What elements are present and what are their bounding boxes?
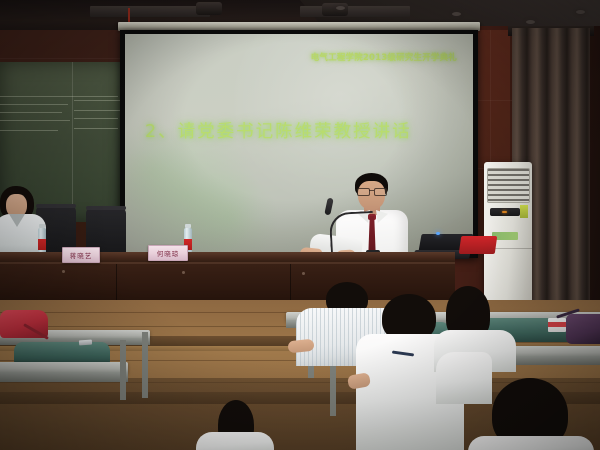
slide-header-text: 电气工程学院2013级研究生开学典礼 (311, 51, 457, 63)
chalkboard-line-3 (74, 100, 120, 101)
glasses-lens-right (374, 188, 387, 196)
chalkboard-line-7 (74, 118, 118, 119)
water-bottle-1 (38, 228, 46, 254)
audience-torso-6 (436, 352, 492, 404)
head-table-stud-3 (302, 272, 305, 275)
desk-front-front-left (0, 372, 128, 382)
screen-vignette (125, 34, 473, 253)
ceiling-speaker-left (322, 3, 348, 16)
ceiling-beam-1 (90, 6, 210, 17)
laptop-power-led-icon (436, 232, 440, 235)
wall-seam-4 (0, 58, 130, 59)
chalkboard-seam (72, 62, 73, 222)
nameplate-1-text: 蒋晓艺 (70, 250, 93, 260)
ac-power-indicator-icon (502, 211, 507, 213)
recessed-light-5 (576, 10, 585, 14)
bottle-cap-2 (185, 224, 191, 228)
nameplate-1: 蒋晓艺 (62, 247, 100, 263)
ceiling-speaker-right (196, 2, 222, 15)
desk-leg-left-1 (120, 340, 126, 400)
nameplate-2: 何晓琼 (148, 245, 188, 261)
ac-vent-grille-icon (487, 168, 530, 203)
nameplate-2-text: 何晓琼 (157, 248, 180, 258)
chalkboard-line-6 (0, 120, 70, 121)
audience-torso-5 (196, 432, 274, 450)
speaker-glasses-icon (357, 188, 386, 194)
chalkboard-line-8 (0, 130, 58, 131)
recessed-light-1 (336, 6, 345, 10)
projection-screen: 电气工程学院2013级研究生开学典礼 2、请党委书记陈维荣教授讲话 (125, 34, 473, 253)
tissue-box-band (548, 322, 566, 327)
chalkboard-line-5 (74, 110, 120, 111)
purple-bag (566, 314, 600, 344)
dais-chair-2-top (86, 206, 126, 210)
recessed-light-2 (452, 12, 461, 16)
red-folder-on-table (459, 236, 498, 254)
recessed-light-3 (526, 20, 535, 24)
lecture-hall-photo: 电气工程学院2013级研究生开学典礼 2、请党委书记陈维荣教授讲话 (0, 0, 600, 450)
projection-screen-frame: 电气工程学院2013级研究生开学典礼 2、请党委书记陈维荣教授讲话 (120, 30, 478, 258)
bottle-label-1 (38, 239, 46, 250)
dais-chair-1-top (36, 204, 76, 208)
ac-energy-label (520, 205, 528, 218)
head-table-stud-2 (182, 271, 185, 274)
bottle-cap-1 (39, 224, 45, 228)
desk-leg-left-2 (142, 332, 148, 398)
audience-torso-4 (468, 436, 594, 450)
ceiling-beam-2 (300, 6, 410, 17)
phone-on-desk[interactable] (79, 340, 92, 346)
chalkboard-line-4 (0, 112, 62, 113)
chalkboard-line-2 (0, 104, 68, 105)
head-table-stud-1 (62, 270, 65, 273)
chalkboard-line-1 (0, 96, 118, 97)
chalkboard-line-9 (74, 128, 118, 129)
slide-title-text: 2、请党委书记陈维荣教授讲话 (145, 118, 412, 143)
audience-chair-left-1 (14, 342, 110, 364)
